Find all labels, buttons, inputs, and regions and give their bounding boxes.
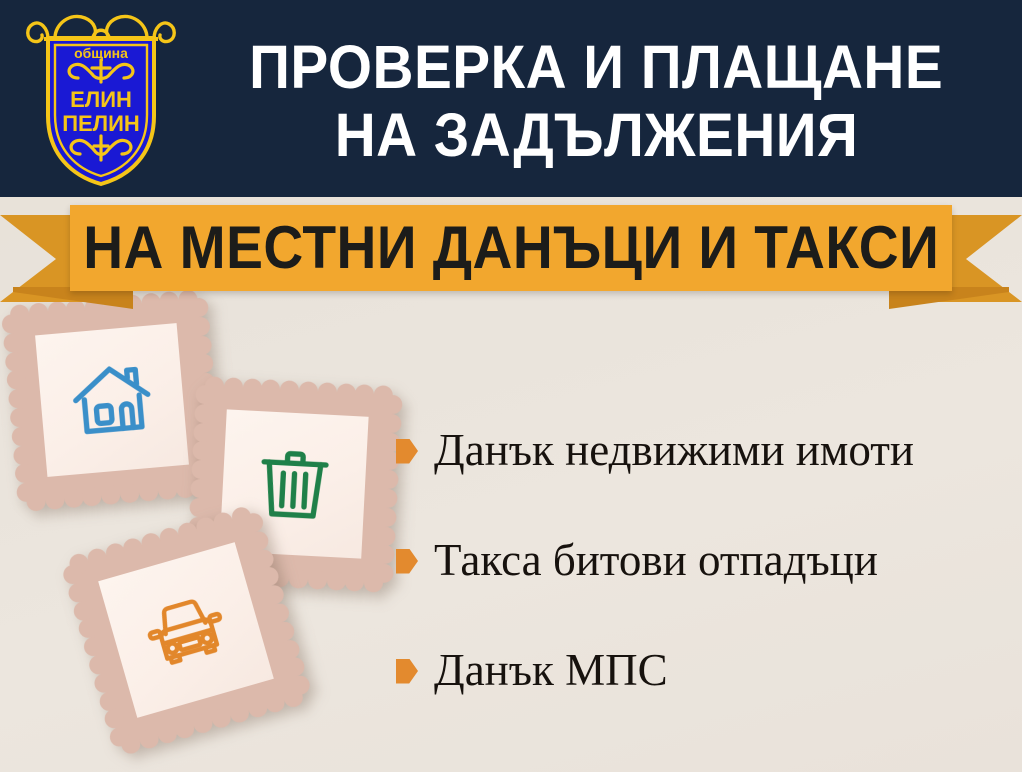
house-icon [65,353,158,446]
crest-top-label: община [74,45,128,61]
list-item-label: Данък недвижими имоти [434,427,914,474]
list-item: Такса битови отпадъци [396,534,1016,588]
crest-name-line1: ЕЛИН [70,87,132,112]
municipality-crest-icon: община ЕЛИН ПЕЛИН [22,8,180,190]
stamp-paper [35,323,189,477]
list-item-label: Такса битови отпадъци [434,537,878,584]
stamp-card-house [10,298,214,502]
poster-title-line-2: НА ЗАДЪЛЖЕНИЯ [334,101,858,169]
bullet-arrow-icon [396,549,418,574]
crest-name-line2: ПЕЛИН [62,111,140,136]
list-item: Данък недвижими имоти [396,424,1016,478]
list-item: Данък МПС [396,644,1016,698]
ribbon-bar: НА МЕСТНИ ДАНЪЦИ И ТАКСИ [70,205,952,291]
car-front-icon [133,577,239,683]
bullet-arrow-icon [396,659,418,684]
subtitle-ribbon: НА МЕСТНИ ДАНЪЦИ И ТАКСИ [0,196,1022,308]
ribbon-label: НА МЕСТНИ ДАНЪЦИ И ТАКСИ [83,218,939,278]
poster-title: ПРОВЕРКА И ПЛАЩАНЕ НА ЗАДЪЛЖЕНИЯ [186,16,1006,186]
trash-bin-icon [249,439,339,529]
poster-canvas: община ЕЛИН ПЕЛИН ПРОВЕРКА И ПЛАЩАНЕ НА … [0,0,1022,772]
poster-title-line-1: ПРОВЕРКА И ПЛАЩАНЕ [249,33,943,101]
bullet-arrow-icon [396,439,418,464]
list-item-label: Данък МПС [434,647,668,694]
stamp-card-group [0,290,420,772]
tax-type-list: Данък недвижими имоти Такса битови отпад… [396,424,1016,698]
